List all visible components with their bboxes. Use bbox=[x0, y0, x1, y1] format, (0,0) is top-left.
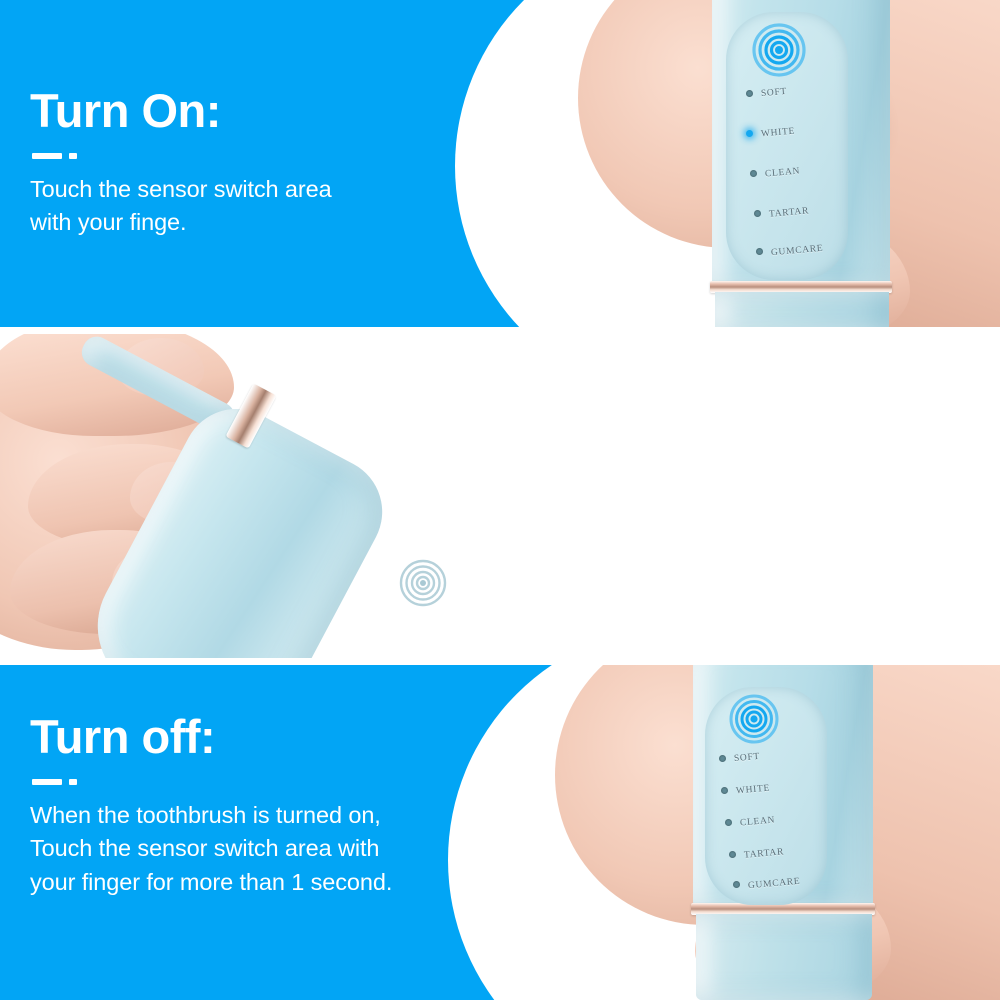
led-soft bbox=[719, 755, 726, 762]
mode-label-gumcare: GUMCARE bbox=[771, 244, 824, 259]
led-tartar bbox=[729, 851, 736, 858]
body-turn-on-line2: with your finge. bbox=[30, 206, 332, 239]
mode-indicator-plate: SOFT WHITE CLEAN TARTAR GUMCARE bbox=[705, 687, 827, 905]
photo-turn-off: SOFT WHITE CLEAN TARTAR GUMCARE bbox=[545, 665, 1000, 1000]
heading-separator bbox=[32, 779, 392, 785]
mode-row-soft[interactable]: SOFT bbox=[746, 88, 787, 98]
mode-row-tartar[interactable]: TARTAR bbox=[754, 208, 809, 218]
led-gumcare bbox=[733, 881, 740, 888]
mode-label-clean: CLEAN bbox=[740, 815, 776, 828]
panel-turn-on: SOFT WHITE CLEAN TARTAR GUMCARE Turn On: bbox=[0, 0, 1000, 327]
mode-row-clean[interactable]: CLEAN bbox=[725, 817, 775, 827]
led-clean bbox=[725, 819, 732, 826]
separator-dash bbox=[32, 153, 62, 159]
mode-row-tartar[interactable]: TARTAR bbox=[729, 849, 784, 859]
mode-indicator-plate: SOFT WHITE CLEAN TARTAR GUMCARE bbox=[726, 12, 848, 280]
mode-label-white: WHITE bbox=[761, 127, 796, 140]
ripple-sensor-icon[interactable] bbox=[725, 691, 783, 747]
led-white bbox=[746, 130, 753, 137]
mode-label-clean: CLEAN bbox=[765, 166, 801, 179]
led-tartar bbox=[754, 210, 761, 217]
led-clean bbox=[750, 170, 757, 177]
heading-turn-off: Turn off: bbox=[30, 712, 392, 762]
led-gumcare bbox=[756, 248, 763, 255]
mode-label-soft: SOFT bbox=[734, 752, 761, 764]
panel-turn-off: SOFT WHITE CLEAN TARTAR GUMCARE Turn off… bbox=[0, 665, 1000, 1000]
mode-label-tartar: TARTAR bbox=[744, 847, 785, 860]
photo-brush-head-installment bbox=[0, 334, 470, 658]
heading-separator bbox=[32, 153, 332, 159]
led-white bbox=[721, 787, 728, 794]
mode-label-soft: SOFT bbox=[761, 87, 788, 99]
panel-brush-head-installment: Brush Head Installment: Hold the toothbr… bbox=[0, 334, 1000, 658]
copy-turn-off: Turn off: When the toothbrush is turned … bbox=[30, 712, 392, 899]
ripple-sensor-icon bbox=[396, 556, 450, 610]
mode-row-gumcare[interactable]: GUMCARE bbox=[756, 246, 823, 256]
separator-dot bbox=[69, 779, 77, 785]
body-turn-on-line1: Touch the sensor switch area bbox=[30, 173, 332, 206]
heading-turn-on: Turn On: bbox=[30, 86, 332, 136]
mode-row-soft[interactable]: SOFT bbox=[719, 753, 760, 763]
mode-row-white[interactable]: WHITE bbox=[721, 785, 770, 795]
photo-turn-on: SOFT WHITE CLEAN TARTAR GUMCARE bbox=[560, 0, 1000, 327]
separator-dot bbox=[69, 153, 77, 159]
mode-row-gumcare[interactable]: GUMCARE bbox=[733, 879, 800, 889]
mode-row-white[interactable]: WHITE bbox=[746, 128, 795, 138]
mode-label-gumcare: GUMCARE bbox=[748, 877, 801, 892]
separator-dash bbox=[32, 779, 62, 785]
body-turn-off-line1: When the toothbrush is turned on, bbox=[30, 799, 392, 832]
mode-label-tartar: TARTAR bbox=[769, 206, 810, 219]
copy-turn-on: Turn On: Touch the sensor switch area wi… bbox=[30, 86, 332, 240]
mode-label-white: WHITE bbox=[736, 784, 771, 797]
led-soft bbox=[746, 90, 753, 97]
body-turn-off-line2: Touch the sensor switch area with bbox=[30, 832, 392, 865]
body-turn-off-line3: your finger for more than 1 second. bbox=[30, 866, 392, 899]
ripple-sensor-icon[interactable] bbox=[748, 20, 810, 80]
mode-row-clean[interactable]: CLEAN bbox=[750, 168, 800, 178]
